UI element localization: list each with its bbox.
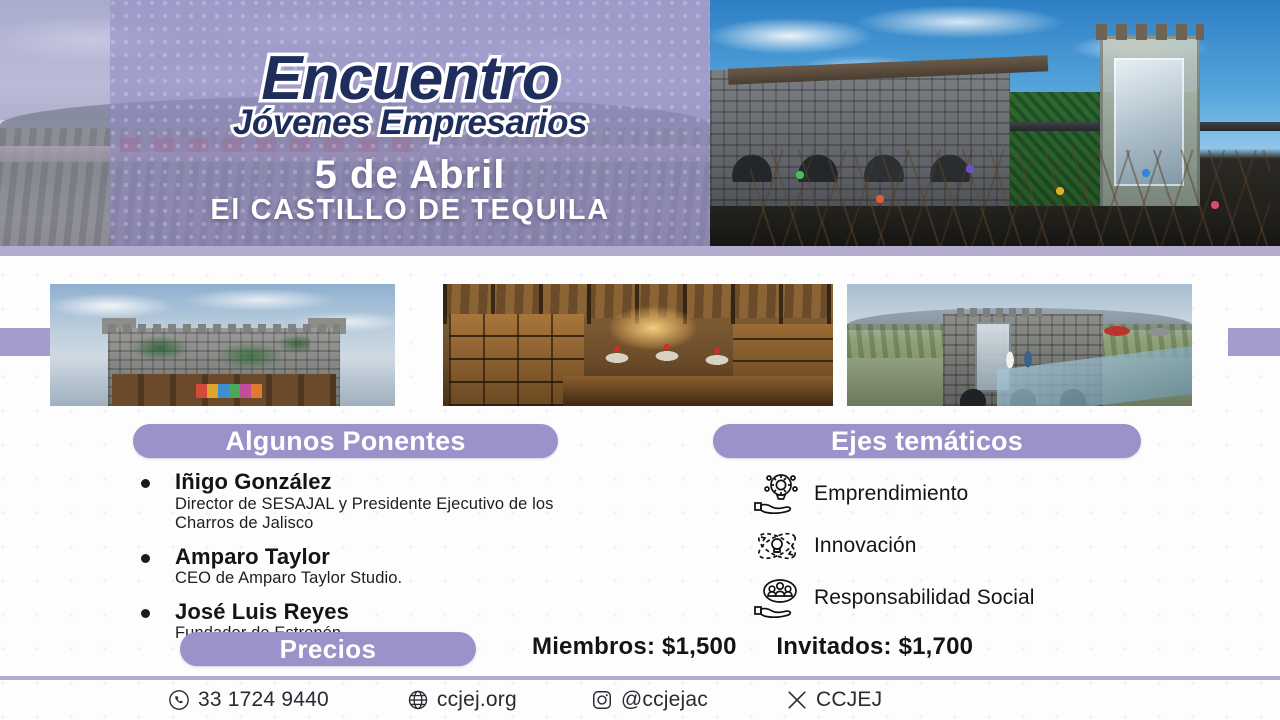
atom-innovation-icon xyxy=(740,522,814,570)
axis-item: Emprendimiento xyxy=(740,470,1200,518)
axis-item: Innovación xyxy=(740,522,1200,570)
battlement xyxy=(108,324,340,332)
event-subtitle: Jóvenes Empresarios xyxy=(110,105,710,140)
castle-facade-photo xyxy=(50,284,395,406)
axis-item: Responsabilidad Social xyxy=(740,574,1200,622)
cellar-floor xyxy=(563,376,833,406)
website-url: ccjej.org xyxy=(437,688,517,712)
contact-whatsapp[interactable]: 33 1724 9440 xyxy=(168,688,329,712)
bullet-icon xyxy=(141,554,150,563)
colored-lanterns xyxy=(760,155,1270,245)
bullet-icon xyxy=(141,609,150,618)
contact-list: 33 1724 9440 ccjej.org xyxy=(0,680,1280,720)
bullet-icon xyxy=(141,479,150,488)
contact-website[interactable]: ccjej.org xyxy=(407,688,517,712)
hero-bottom-bar xyxy=(0,246,1280,256)
instagram-handle: @ccjejac xyxy=(621,688,708,712)
event-venue: El CASTILLO DE TEQUILA xyxy=(110,196,710,225)
colored-letters-sign xyxy=(196,384,262,398)
speaker-role: Director de SESAJAL y Presidente Ejecuti… xyxy=(175,495,603,534)
thematic-axes-list: Emprendimiento Innovación xyxy=(740,470,1200,626)
left-accent-bar xyxy=(0,328,52,356)
speakers-list: Iñigo González Director de SESAJAL y Pre… xyxy=(133,470,603,655)
speaker-item: Iñigo González Director de SESAJAL y Pre… xyxy=(133,470,603,534)
content-area: Algunos Ponentes Iñigo González Director… xyxy=(0,418,1280,668)
speaker-name: Amparo Taylor xyxy=(175,545,603,570)
ivy-decoration xyxy=(130,334,310,374)
speakers-heading: Algunos Ponentes xyxy=(133,424,558,458)
right-accent-bar xyxy=(1228,328,1280,356)
hero-banner: Encuentro Jóvenes Empresarios 5 de Abril… xyxy=(0,0,1280,256)
contact-instagram[interactable]: @ccjejac xyxy=(591,688,708,712)
event-date: 5 de Abril xyxy=(110,155,710,195)
x-twitter-icon xyxy=(786,689,808,711)
contact-footer: 33 1724 9440 ccjej.org xyxy=(0,676,1280,720)
prices-heading: Precios xyxy=(180,632,476,666)
visitors xyxy=(1002,346,1042,372)
tower-battlement xyxy=(1096,24,1204,40)
instagram-icon xyxy=(591,689,613,711)
globe-icon xyxy=(407,689,429,711)
castle-terrace-photo xyxy=(847,284,1192,406)
barrel-cellar-photo xyxy=(443,284,833,406)
hero-text-block: Encuentro Jóvenes Empresarios 5 de Abril… xyxy=(110,0,710,246)
event-title: Encuentro xyxy=(110,48,710,110)
speaker-name: Iñigo González xyxy=(175,470,603,495)
x-handle: CCJEJ xyxy=(816,688,882,712)
battlement xyxy=(957,308,1043,317)
members-price: Miembros: $1,500 xyxy=(532,633,737,660)
hand-people-group-icon xyxy=(740,574,814,622)
whatsapp-number: 33 1724 9440 xyxy=(198,688,329,712)
whatsapp-icon xyxy=(168,689,190,711)
guests-price: Invitados: $1,700 xyxy=(776,633,973,660)
speaker-name: José Luis Reyes xyxy=(175,600,603,625)
axis-label: Emprendimiento xyxy=(814,482,968,506)
axis-label: Innovación xyxy=(814,534,917,558)
axis-label: Responsabilidad Social xyxy=(814,586,1035,610)
thematic-axes-heading: Ejes temáticos xyxy=(713,424,1141,458)
photo-strip xyxy=(0,284,1280,406)
speaker-role: CEO de Amparo Taylor Studio. xyxy=(175,569,603,588)
hand-gear-lightbulb-icon xyxy=(740,470,814,518)
event-flyer: Encuentro Jóvenes Empresarios 5 de Abril… xyxy=(0,0,1280,720)
castle-venue-photo xyxy=(710,0,1280,256)
table-flowers xyxy=(593,342,743,356)
contact-x-twitter[interactable]: CCJEJ xyxy=(786,688,882,712)
prices-values: Miembros: $1,500 Invitados: $1,700 xyxy=(532,633,1132,661)
speaker-item: Amparo Taylor CEO de Amparo Taylor Studi… xyxy=(133,545,603,589)
parked-vehicles xyxy=(1097,324,1192,338)
